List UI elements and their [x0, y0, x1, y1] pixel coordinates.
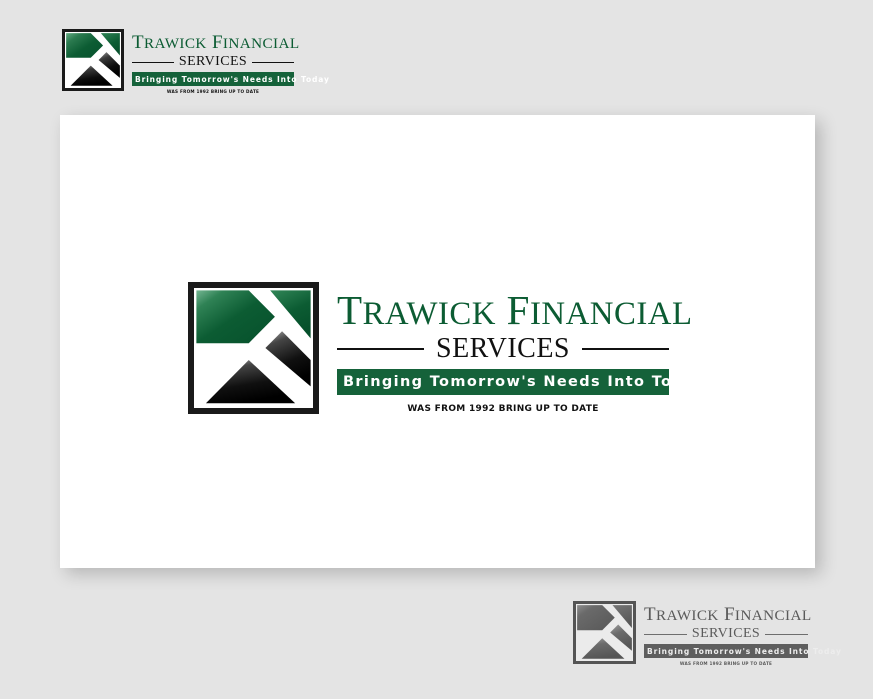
tagline-banner-topleft: Bringing Tomorrow's Needs Into Today	[132, 72, 294, 86]
brand-name-initial-f: F	[724, 604, 735, 625]
logo-mark-main	[188, 282, 319, 414]
brand-name-main: TRAWICK FINANCIAL	[337, 290, 669, 331]
logo-mark-grayscale	[573, 601, 636, 664]
logo-lockup-topleft: TRAWICK FINANCIAL SERVICES Bringing Tomo…	[62, 29, 294, 94]
rule-left	[644, 634, 687, 635]
rule-left	[337, 348, 424, 350]
services-row-grayscale: SERVICES	[644, 627, 808, 641]
brand-name-topleft: TRAWICK FINANCIAL	[132, 33, 294, 52]
rule-right	[252, 62, 294, 63]
rule-right	[765, 634, 808, 635]
services-word-topleft: SERVICES	[179, 55, 247, 69]
tagline-banner-main: Bringing Tomorrow's Needs Into Today	[337, 369, 669, 395]
brand-name-initial-t: T	[132, 32, 144, 53]
trawick-abstract-k-mountain-icon	[576, 604, 633, 661]
logo-mark-topleft	[62, 29, 124, 91]
services-row-topleft: SERVICES	[132, 55, 294, 69]
brand-name-inancial: INANCIAL	[223, 35, 300, 52]
logo-wordmark-grayscale: TRAWICK FINANCIAL SERVICES Bringing Tomo…	[636, 601, 808, 666]
brand-name-initial-t: T	[644, 604, 656, 625]
brand-name-initial-f: F	[212, 32, 223, 53]
brand-name-initial-t: T	[337, 287, 363, 333]
brand-name-rawick: RAWICK	[656, 607, 719, 624]
rule-left	[132, 62, 174, 63]
brand-name-initial-f: F	[507, 287, 530, 333]
logo-lockup-main: TRAWICK FINANCIAL SERVICES Bringing Tomo…	[188, 282, 669, 414]
logo-wordmark-topleft: TRAWICK FINANCIAL SERVICES Bringing Tomo…	[124, 29, 294, 94]
brand-name-rawick: RAWICK	[144, 35, 207, 52]
brand-name-grayscale: TRAWICK FINANCIAL	[644, 605, 808, 624]
annotation-note-topleft: WAS FROM 1992 BRING UP TO DATE	[132, 89, 294, 94]
brand-name-inancial: INANCIAL	[735, 607, 812, 624]
tagline-banner-grayscale: Bringing Tomorrow's Needs Into Today	[644, 644, 808, 658]
logo-lockup-grayscale: TRAWICK FINANCIAL SERVICES Bringing Tomo…	[573, 601, 808, 666]
services-word-main: SERVICES	[436, 335, 570, 363]
brand-name-rawick: RAWICK	[363, 296, 496, 332]
annotation-note-grayscale: WAS FROM 1992 BRING UP TO DATE	[644, 661, 808, 666]
rule-right	[582, 348, 669, 350]
services-word-grayscale: SERVICES	[692, 627, 760, 641]
trawick-abstract-k-mountain-icon	[65, 32, 121, 88]
trawick-abstract-k-mountain-icon	[194, 288, 313, 408]
annotation-note-main: WAS FROM 1992 BRING UP TO DATE	[337, 404, 669, 414]
services-row-main: SERVICES	[337, 335, 669, 363]
brand-name-inancial: INANCIAL	[530, 296, 693, 332]
logo-wordmark-main: TRAWICK FINANCIAL SERVICES Bringing Tomo…	[319, 282, 669, 414]
